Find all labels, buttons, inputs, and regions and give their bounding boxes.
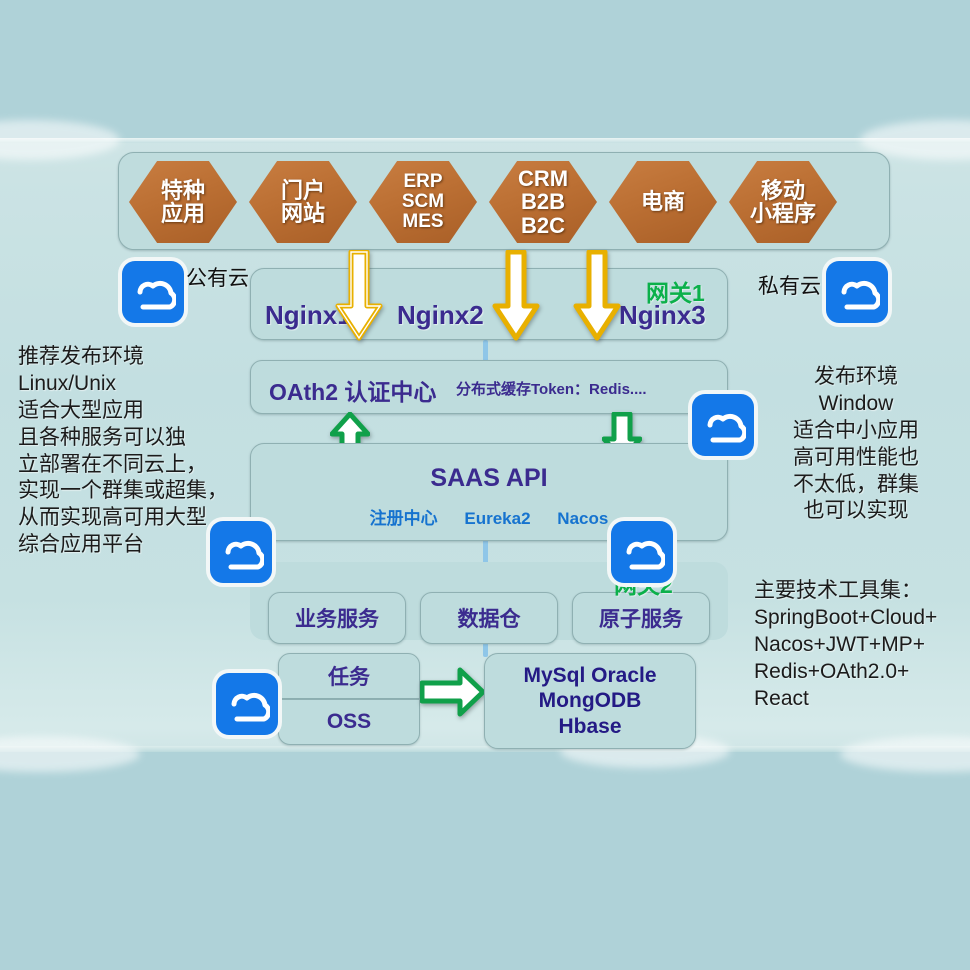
oss-label: OSS bbox=[327, 710, 371, 734]
arrow-down-icon bbox=[492, 250, 540, 347]
arrow-right-icon bbox=[420, 667, 486, 722]
connector-gw-oauth bbox=[483, 340, 488, 362]
oauth-panel: OAth2 认证中心 分布式缓存Token：Redis.... bbox=[250, 360, 728, 414]
app-hex-label: 移动小程序 bbox=[750, 179, 816, 226]
cloud-glyph bbox=[834, 272, 880, 312]
cloud-icon[interactable] bbox=[122, 261, 184, 323]
app-hex-label: 电商 bbox=[641, 190, 685, 213]
app-hex-mobile-miniprogram[interactable]: 移动小程序 bbox=[729, 161, 837, 243]
left-note: 推荐发布环境 Linux/Unix 适合大型应用 且各种服务可以独 立部署在不同… bbox=[18, 344, 234, 559]
architecture-diagram: 特种应用 门户网站 ERPSCMMES CRMB2BB2C 电商 移动小程序 N… bbox=[0, 0, 970, 970]
cloud-glyph bbox=[224, 684, 270, 724]
cloud-icon[interactable] bbox=[692, 394, 754, 456]
cloud-icon[interactable] bbox=[826, 261, 888, 323]
app-hex-portal-website[interactable]: 门户网站 bbox=[249, 161, 357, 243]
service-box-business-service[interactable]: 业务服务 bbox=[268, 592, 406, 644]
task-box[interactable]: 任务 bbox=[278, 653, 420, 699]
cloud-glyph bbox=[619, 532, 665, 572]
task-label: 任务 bbox=[328, 661, 370, 691]
database-line-2: MongODB bbox=[539, 688, 642, 714]
public-cloud-label: 公有云 bbox=[186, 262, 249, 292]
tech-stack-note: 主要技术工具集： SpringBoot+Cloud+ Nacos+JWT+MP+… bbox=[754, 578, 970, 712]
database-box[interactable]: MySql Oracle MongODB Hbase bbox=[484, 653, 696, 749]
service-label: 数据仓 bbox=[458, 603, 521, 633]
app-hex-special-application[interactable]: 特种应用 bbox=[129, 161, 237, 243]
cloud-icon[interactable] bbox=[611, 521, 673, 583]
database-line-3: Hbase bbox=[558, 714, 621, 740]
cloud-icon[interactable] bbox=[216, 673, 278, 735]
gateway-nginx-panel: Nginx1 Nginx2 Nginx3 网关1 bbox=[250, 268, 728, 340]
app-hex-label: ERPSCMMES bbox=[402, 172, 444, 232]
application-hex-row: 特种应用 门户网站 ERPSCMMES CRMB2BB2C 电商 移动小程序 bbox=[119, 153, 889, 249]
service-label: 原子服务 bbox=[599, 603, 683, 633]
database-line-1: MySql Oracle bbox=[523, 663, 656, 689]
service-box-data-warehouse[interactable]: 数据仓 bbox=[420, 592, 558, 644]
arrow-down-icon bbox=[573, 250, 621, 347]
gateway1-label: 网关1 bbox=[646, 274, 705, 308]
nacos-label: Nacos bbox=[557, 509, 608, 528]
application-layer-panel: 特种应用 门户网站 ERPSCMMES CRMB2BB2C 电商 移动小程序 bbox=[118, 152, 890, 250]
right-note: 发布环境 Window 适合中小应用 高可用性能也 不太低，群集 也可以实现 bbox=[748, 364, 964, 525]
saas-title: SAAS API bbox=[251, 464, 727, 493]
arrow-down-icon bbox=[335, 250, 383, 347]
app-hex-label: 门户网站 bbox=[281, 179, 325, 226]
eureka-label: Eureka2 bbox=[464, 509, 530, 528]
cloud-glyph bbox=[130, 272, 176, 312]
oss-box[interactable]: OSS bbox=[278, 699, 420, 745]
private-cloud-label: 私有云 bbox=[758, 270, 821, 300]
oauth-cache-label: 分布式缓存Token：Redis.... bbox=[456, 378, 647, 399]
service-label: 业务服务 bbox=[295, 603, 379, 633]
app-hex-label: 特种应用 bbox=[161, 179, 205, 226]
app-hex-label: CRMB2BB2C bbox=[518, 167, 568, 237]
nginx2-label: Nginx2 bbox=[397, 300, 484, 331]
app-hex-ecommerce[interactable]: 电商 bbox=[609, 161, 717, 243]
registry-label: 注册中心 bbox=[370, 509, 438, 528]
app-hex-erp-scm-mes[interactable]: ERPSCMMES bbox=[369, 161, 477, 243]
oauth-title: OAth2 认证中心 bbox=[269, 373, 436, 407]
app-hex-crm-b2b-b2c[interactable]: CRMB2BB2C bbox=[489, 161, 597, 243]
cloud-glyph bbox=[700, 405, 746, 445]
